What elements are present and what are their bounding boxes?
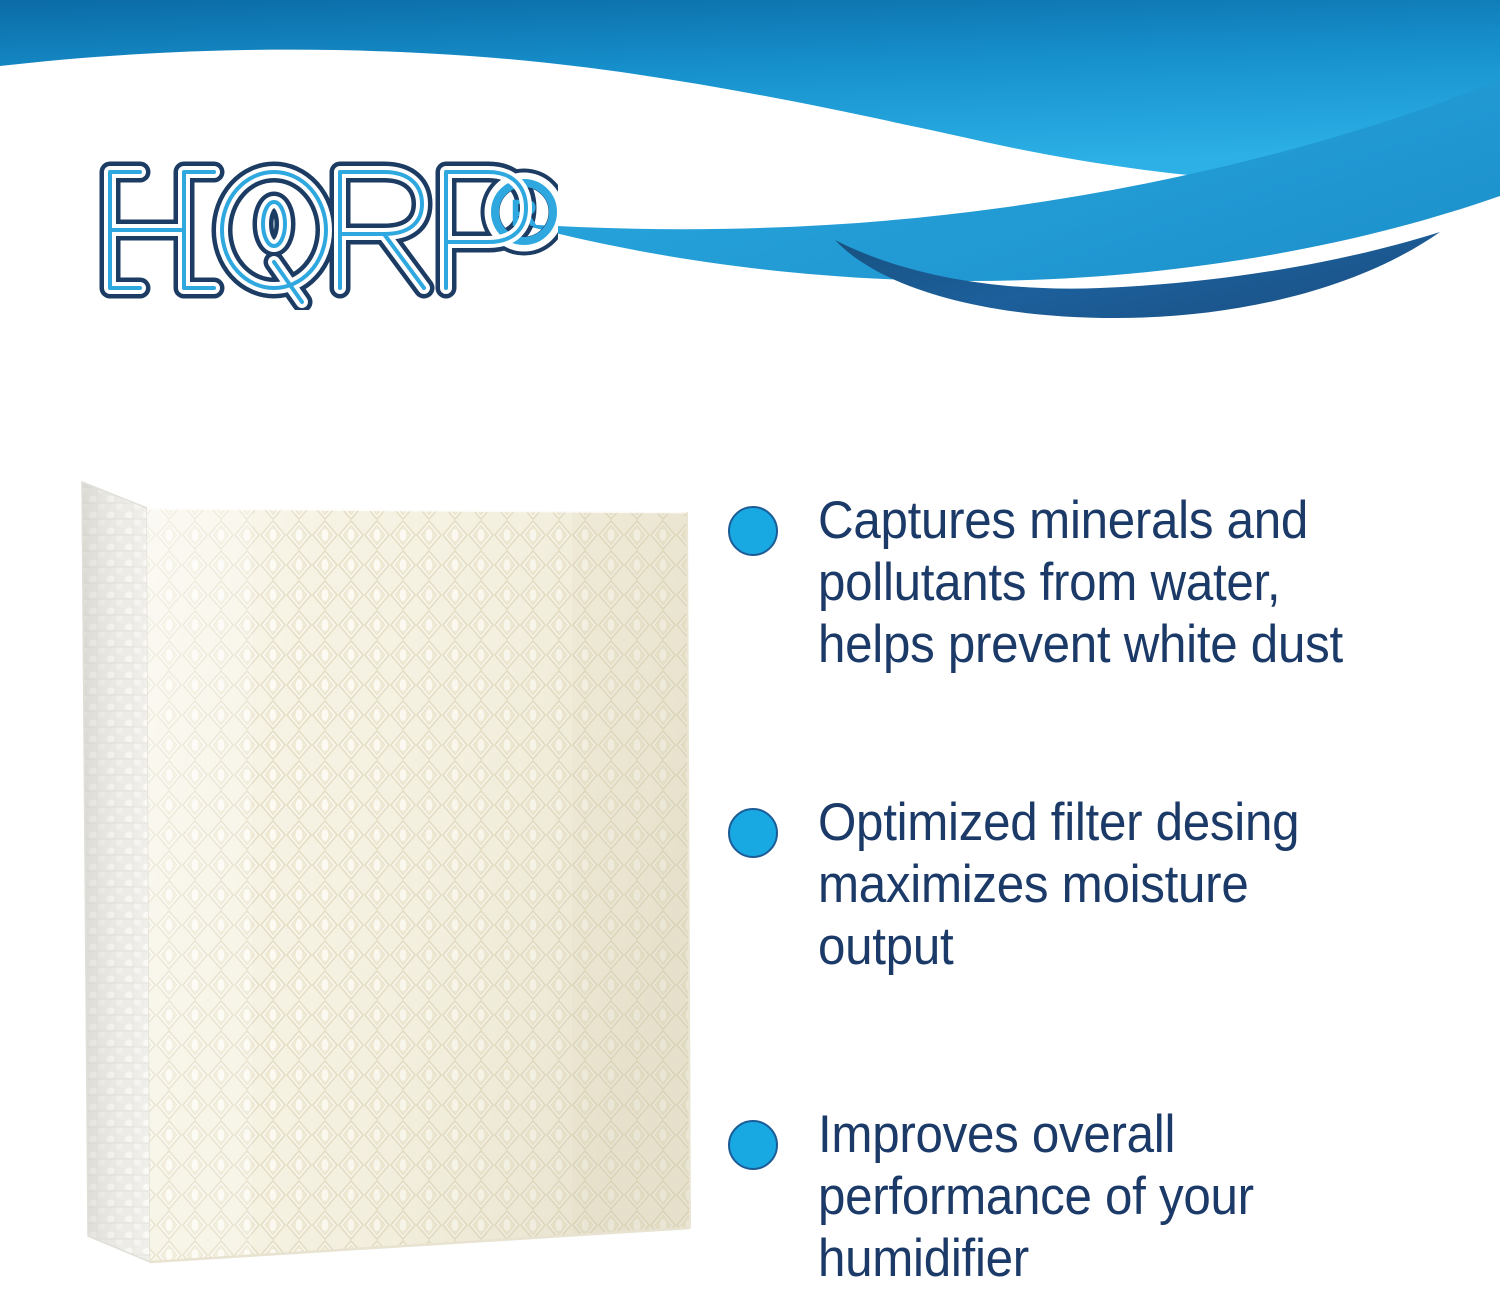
feature-item-1-text: Captures minerals and pollutants from wa… <box>818 490 1343 676</box>
feature-list: Captures minerals and pollutants from wa… <box>728 470 1488 1310</box>
bullet-dot-icon <box>728 808 778 858</box>
feature-item-3-text: Improves overall performance of your hum… <box>818 1104 1254 1290</box>
bullet-dot-icon <box>728 506 778 556</box>
filter-front-face <box>132 490 712 1280</box>
hqrp-logo: .lt-out{fill:none;stroke:#1C3C64;stroke-… <box>88 150 558 310</box>
feature-item-1: Captures minerals and pollutants from wa… <box>728 490 1488 676</box>
feature-item-2-text: Optimized filter desing maximizes moistu… <box>818 792 1299 978</box>
feature-item-2: Optimized filter desing maximizes moistu… <box>728 792 1488 978</box>
humidifier-wick-filter-image <box>52 430 732 1310</box>
product-feature-banner: .lt-out{fill:none;stroke:#1C3C64;stroke-… <box>0 0 1500 1310</box>
feature-item-3: Improves overall performance of your hum… <box>728 1104 1488 1290</box>
bullet-dot-icon <box>728 1120 778 1170</box>
